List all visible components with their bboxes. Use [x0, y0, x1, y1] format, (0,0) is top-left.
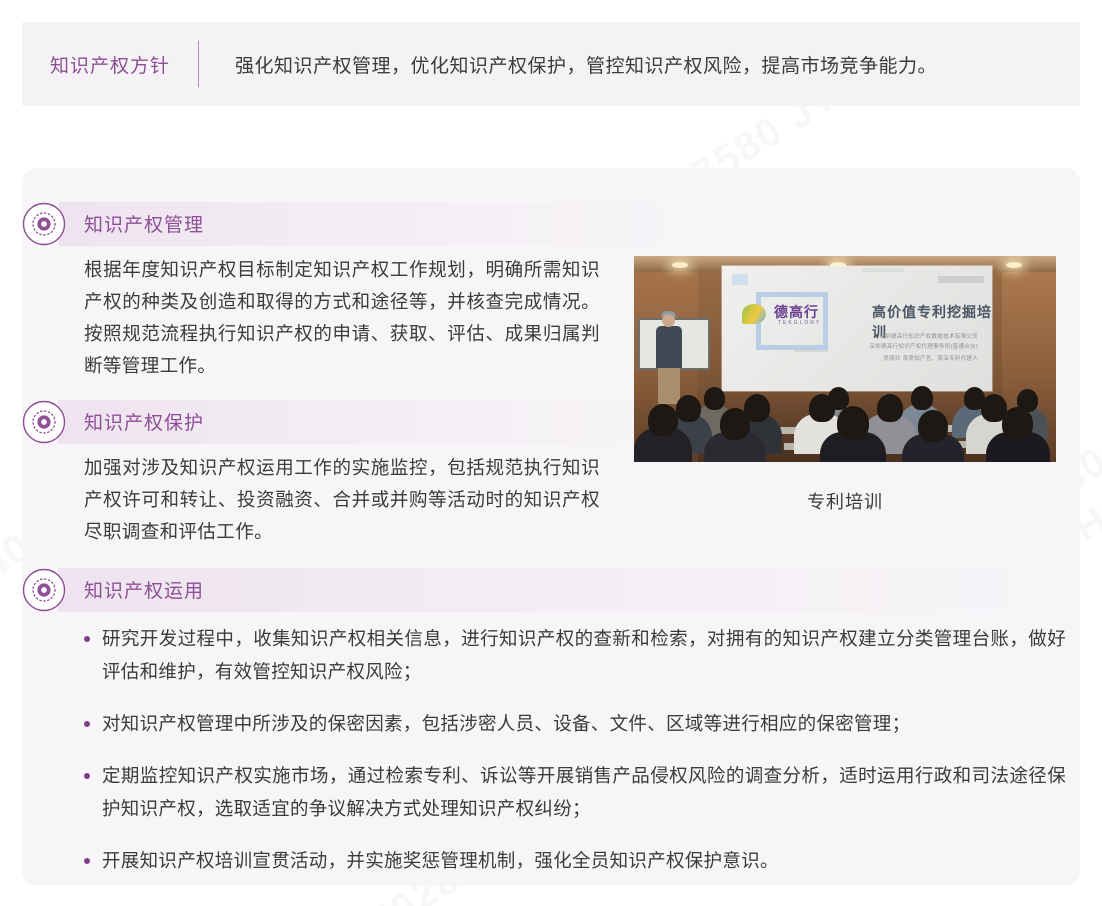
slide-subtitle-1: 深圳德高行知识产权数据技术有限公司	[879, 332, 978, 340]
target-ring-icon	[22, 400, 66, 444]
slide-decor-block	[862, 268, 904, 272]
list-item-text: 研究开发过程中，收集知识产权相关信息，进行知识产权的查新和检索，对拥有的知识产权…	[102, 628, 1066, 682]
audience-head	[877, 394, 903, 422]
patent-training-photo-block: 德高行 TEKGLORY 高价值专利挖掘培训 深圳德高行知识产权数据技术有限公司…	[634, 256, 1056, 514]
policy-statement: 强化知识产权管理，优化知识产权保护，管控知识产权风险，提高市场竞争能力。	[199, 51, 1080, 78]
list-item: 开展知识产权培训宣贯活动，并实施奖惩管理机制，强化全员知识产权保护意识。	[84, 844, 1066, 877]
policy-banner: 知识产权方针 强化知识产权管理，优化知识产权保护，管控知识产权风险，提高市场竞争…	[22, 22, 1080, 106]
speaker-head	[662, 314, 675, 327]
list-item-text: 定期监控知识产权实施市场，通过检索专利、诉讼等开展销售产品侵权风险的调查分析，适…	[102, 765, 1066, 819]
target-ring-icon	[22, 202, 66, 246]
list-item: 定期监控知识产权实施市场，通过检索专利、诉讼等开展销售产品侵权风险的调查分析，适…	[84, 759, 1066, 825]
audience-head	[911, 386, 933, 410]
projector-screen: 德高行 TEKGLORY 高价值专利挖掘培训 深圳德高行知识产权数据技术有限公司…	[722, 266, 992, 391]
bullet-dot-icon	[84, 636, 90, 642]
audience-head	[1002, 407, 1033, 440]
audience-head	[809, 394, 835, 422]
audience-head	[837, 406, 869, 440]
audience-rows	[634, 374, 1056, 462]
slide-subtitle-2: 深圳德高行知识产权代理事务所(普通合伙)	[869, 342, 978, 350]
speaker-torso	[656, 326, 682, 368]
utilization-bullet-list: 研究开发过程中，收集知识产权相关信息，进行知识产权的查新和检索，对拥有的知识产权…	[84, 622, 1066, 877]
slide-logo-cn: 德高行	[774, 302, 819, 322]
section-title: 知识产权保护	[84, 408, 204, 435]
list-item: 对知识产权管理中所涉及的保密因素，包括涉密人员、设备、文件、区域等进行相应的保密…	[84, 707, 1066, 740]
audience-head	[648, 404, 678, 436]
photo-caption: 专利培训	[634, 488, 1056, 514]
list-item-text: 对知识产权管理中所涉及的保密因素，包括涉密人员、设备、文件、区域等进行相应的保密…	[102, 713, 910, 734]
section-body-text: 加强对涉及知识产权运用工作的实施监控，包括规范执行知识产权许可和转让、投资融资、…	[84, 452, 600, 548]
audience-head	[918, 410, 948, 442]
bullet-dot-icon	[84, 721, 90, 727]
slide-decor-block	[732, 274, 748, 285]
patent-training-seminar-photo: 德高行 TEKGLORY 高价值专利挖掘培训 深圳德高行知识产权数据技术有限公司…	[634, 256, 1056, 462]
section-title: 知识产权运用	[84, 576, 204, 603]
list-item-text: 开展知识产权培训宣贯活动，并实施奖惩管理机制，强化全员知识产权保护意识。	[102, 850, 779, 871]
slide-decor-block	[938, 276, 984, 283]
bullet-dot-icon	[84, 773, 90, 779]
audience-head	[676, 395, 701, 422]
target-ring-icon	[22, 568, 66, 612]
slide-subtitle-3: 吴丽玲 首席知产官、资深专利代理人	[883, 354, 978, 362]
audience-head	[720, 408, 750, 440]
slide-logo-mark	[742, 304, 766, 324]
section-title-bar	[58, 568, 1038, 612]
audience-head	[704, 387, 725, 410]
section-title: 知识产权管理	[84, 210, 204, 237]
slide-logo-en: TEKGLORY	[778, 320, 821, 326]
bullet-dot-icon	[84, 858, 90, 864]
section-body-text: 根据年度知识产权目标制定知识产权工作规划，明确所需知识产权的种类及创造和取得的方…	[84, 254, 600, 382]
policy-label: 知识产权方针	[22, 51, 198, 78]
ceiling-light-icon	[1006, 262, 1022, 268]
list-item: 研究开发过程中，收集知识产权相关信息，进行知识产权的查新和检索，对拥有的知识产权…	[84, 622, 1066, 688]
ceiling-light-icon	[672, 262, 688, 268]
